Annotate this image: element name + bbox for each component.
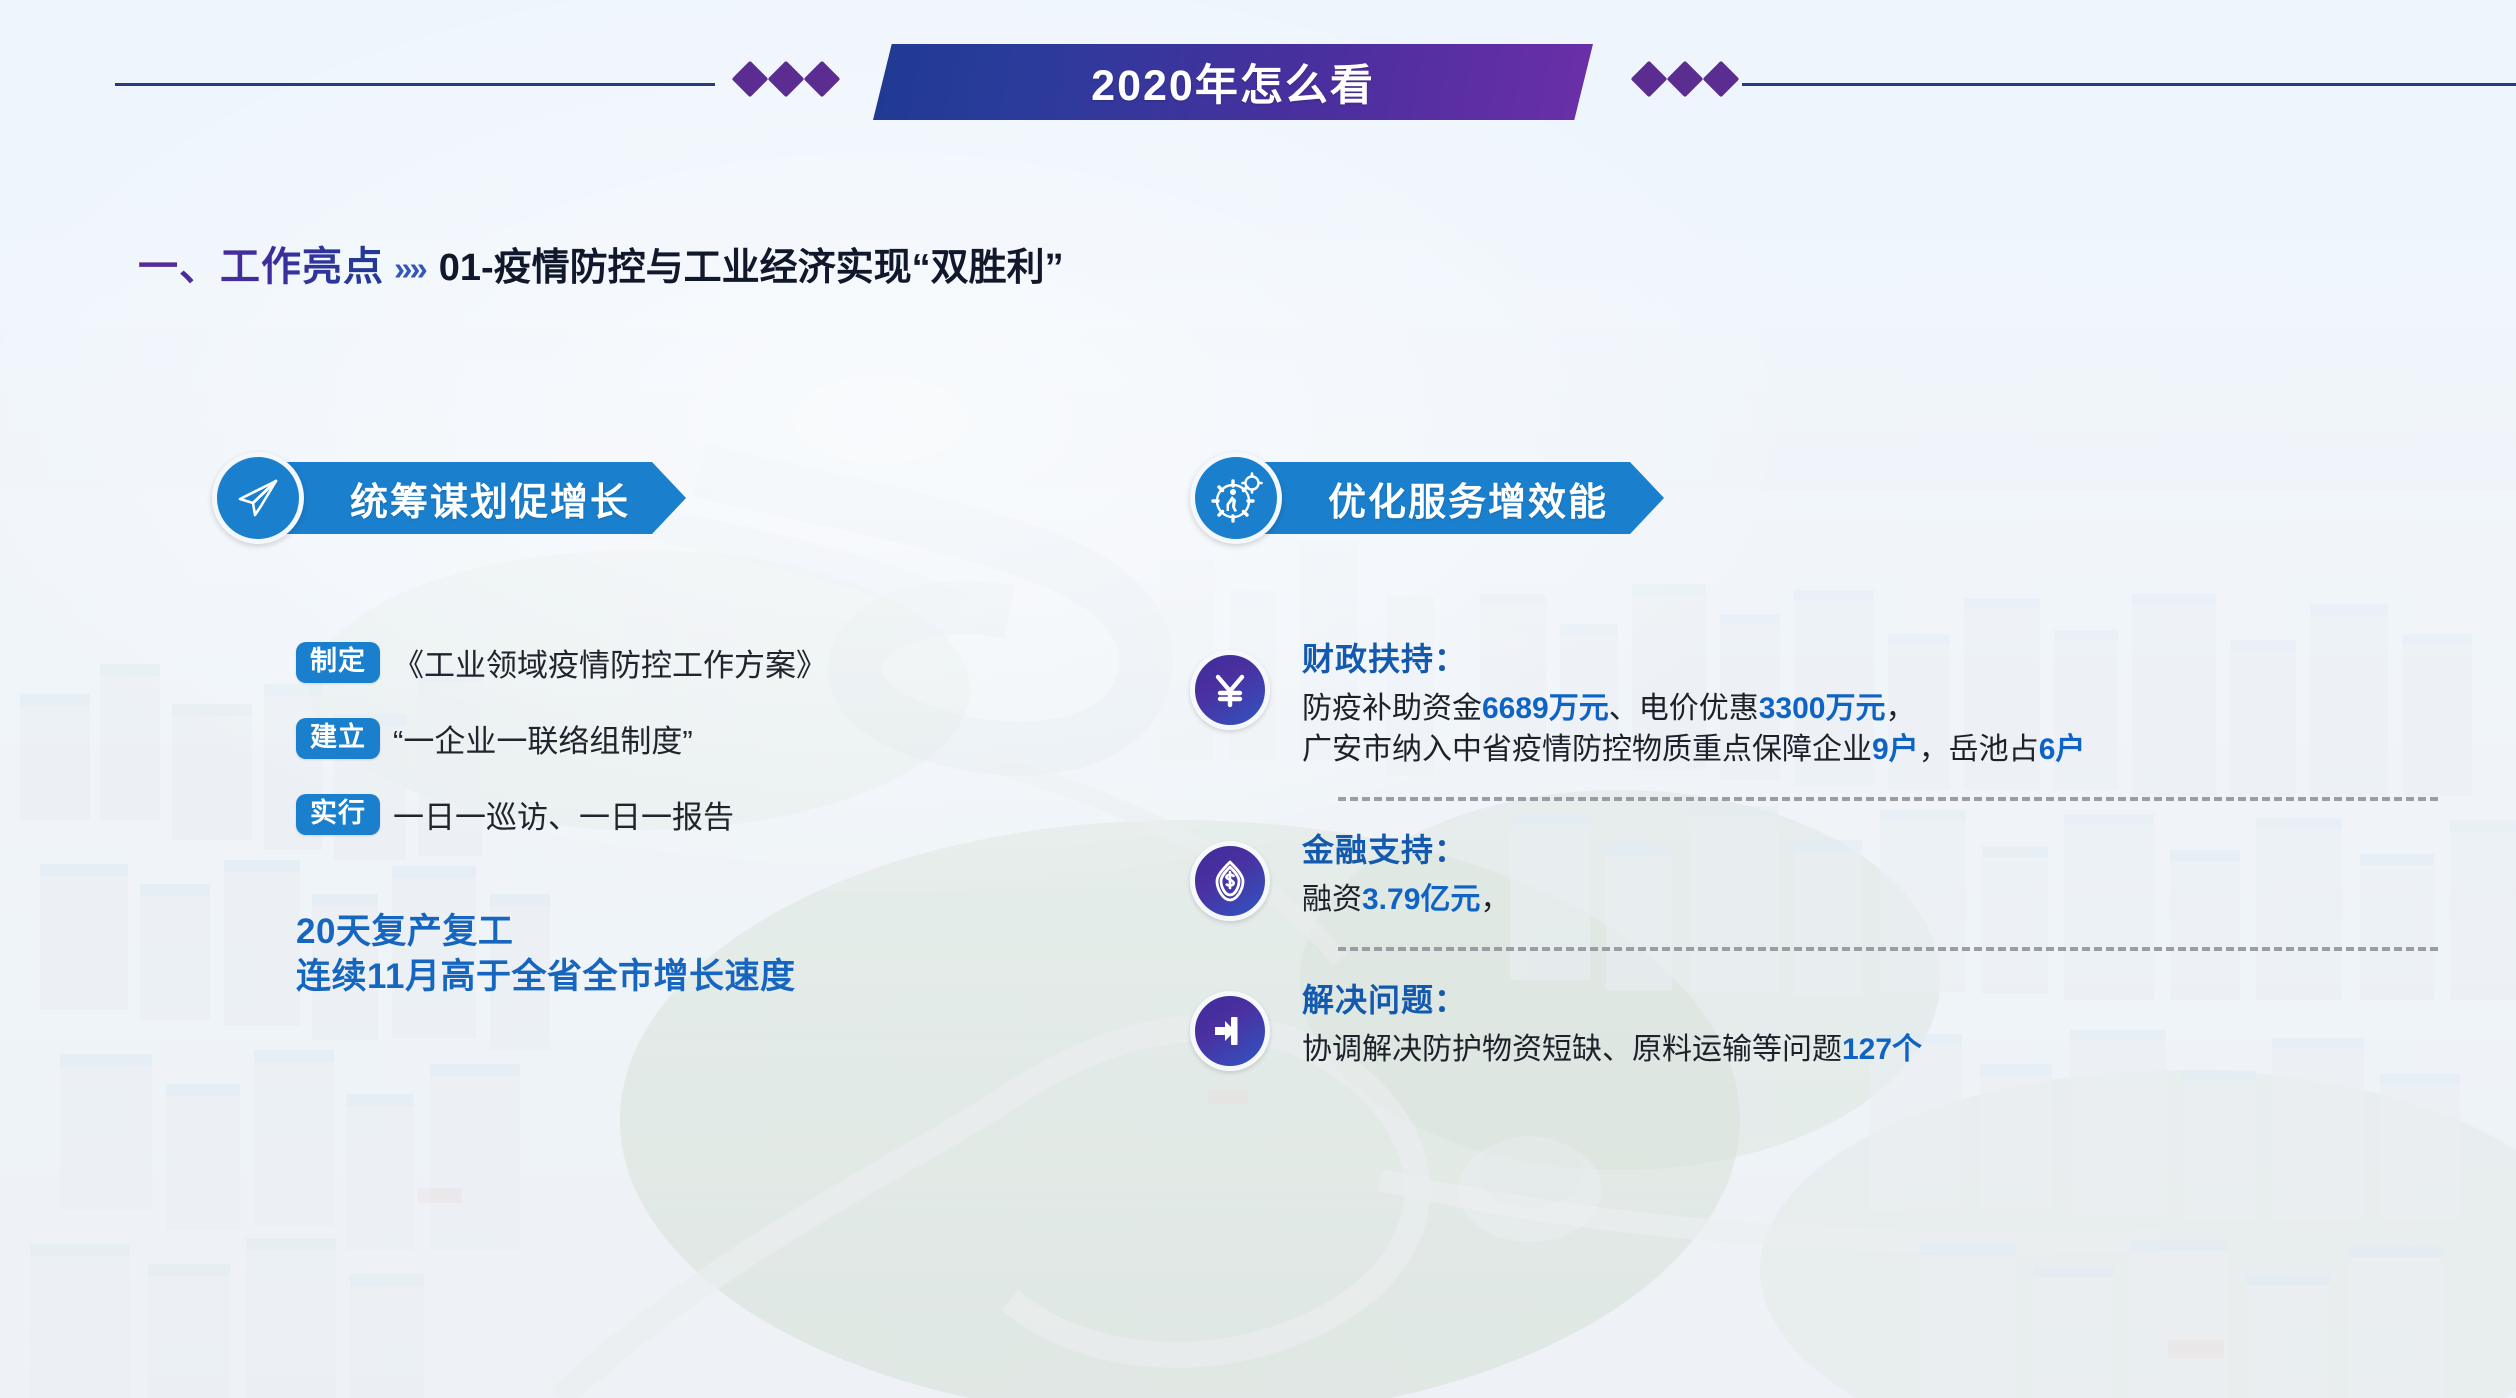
money-note-icon [1190,841,1270,921]
highlight-value: 6689万元 [1482,692,1609,725]
body-text: 防疫补助资金 [1302,692,1482,725]
body-text: 协调解决防护物资短缺、原料运输等问题 [1302,1033,1842,1066]
highlight-value: 3.79亿元 [1362,883,1480,916]
header-rule-right [1742,83,2516,86]
body-text: 融资 [1302,883,1362,916]
section-index-label: 一、工作亮点 [138,234,384,292]
left-item-row: 制定《工业领域疫情防控工作方案》 [296,640,996,685]
header-diamonds-left [737,66,835,92]
right-item-line: 广安市纳入中省疫情防控物质重点保障企业9户，岳池占6户 [1302,730,2085,771]
right-item-title: 财政扶持： [1302,634,2085,680]
left-highlight-line: 20天复产复工 [296,910,996,955]
body-text: ， [1480,883,1510,916]
diamond-icon [1631,61,1668,98]
header-diamonds-right [1636,66,1734,92]
diamond-icon [1703,61,1740,98]
highlight-value: 6户 [2039,733,2086,766]
header-banner: 2020年怎么看 [873,44,1593,120]
left-column-banner: 统筹谋划促增长 [212,452,686,544]
right-column-banner: 优化服务增效能 [1190,452,1664,544]
left-banner-arrow: 统筹谋划促增长 [282,462,686,534]
left-item-tag: 建立 [296,718,380,759]
slide-header: 2020年怎么看 [0,0,2516,140]
body-text: ， [1886,692,1916,725]
section-heading: 一、工作亮点 »» 01-疫情防控与工业经济实现“双胜利” [138,234,1064,292]
arrow-into-door-icon [1190,991,1270,1071]
body-text: ，岳池占 [1919,733,2039,766]
left-item-row: 建立“一企业一联络组制度” [296,716,996,761]
left-item-text: 《工业领域疫情防控工作方案》 [393,640,827,685]
left-highlight-block: 20天复产复工连续11月高于全省全市增长速度 [296,910,996,1000]
body-text: 、电价优惠 [1609,692,1759,725]
right-item-body: 解决问题：协调解决防护物资短缺、原料运输等问题127个 [1302,973,1922,1071]
chevron-right-icon: »» [394,250,425,288]
left-item-row: 实行一日一巡访、一日一报告 [296,792,996,837]
slide-canvas: 2020年怎么看 一、工作亮点 »» 01-疫情防控与工业经济实现“双胜利” [0,0,2516,1398]
header-rule-left [115,83,715,86]
left-banner-label: 统筹谋划促增长 [350,471,630,526]
right-item: 金融支持：融资3.79亿元， [1190,823,2470,921]
right-item-line: 融资3.79亿元， [1302,880,1510,921]
diamond-icon [804,61,841,98]
right-item-body: 金融支持：融资3.79亿元， [1302,823,1510,921]
section-subtitle: 01-疫情防控与工业经济实现“双胜利” [439,236,1064,291]
right-item-divider [1338,797,2438,801]
right-item: 解决问题：协调解决防护物资短缺、原料运输等问题127个 [1190,973,2470,1071]
left-item-tag: 实行 [296,794,380,835]
highlight-value: 127个 [1842,1033,1922,1066]
right-item-line: 协调解决防护物资短缺、原料运输等问题127个 [1302,1030,1922,1071]
left-column-content: 制定《工业领域疫情防控工作方案》建立“一企业一联络组制度”实行一日一巡访、一日一… [296,640,996,1000]
right-item-title: 解决问题： [1302,975,1922,1021]
right-banner-label: 优化服务增效能 [1328,471,1608,526]
right-item: 财政扶持：防疫补助资金6689万元、电价优惠3300万元，广安市纳入中省疫情防控… [1190,632,2470,771]
left-item-tag: 制定 [296,642,380,683]
right-item-divider [1338,947,2438,951]
yen-currency-icon [1190,650,1270,730]
right-item-line: 防疫补助资金6689万元、电价优惠3300万元， [1302,689,2085,730]
right-item-title: 金融支持： [1302,825,1510,871]
right-banner-arrow: 优化服务增效能 [1260,462,1664,534]
diamond-icon [732,61,769,98]
left-highlight-line: 连续11月高于全省全市增长速度 [296,955,996,1000]
left-item-text: 一日一巡访、一日一报告 [393,792,734,837]
highlight-value: 9户 [1872,733,1919,766]
header-title: 2020年怎么看 [1091,51,1375,113]
right-item-body: 财政扶持：防疫补助资金6689万元、电价优惠3300万元，广安市纳入中省疫情防控… [1302,632,2085,771]
paper-plane-icon [212,452,304,544]
body-text: 广安市纳入中省疫情防控物质重点保障企业 [1302,733,1872,766]
right-column-content: 财政扶持：防疫补助资金6689万元、电价优惠3300万元，广安市纳入中省疫情防控… [1190,632,2470,1071]
diamond-icon [1667,61,1704,98]
diamond-icon [768,61,805,98]
left-item-text: “一企业一联络组制度” [393,716,693,761]
gear-runner-icon [1190,452,1282,544]
highlight-value: 3300万元 [1759,692,1886,725]
